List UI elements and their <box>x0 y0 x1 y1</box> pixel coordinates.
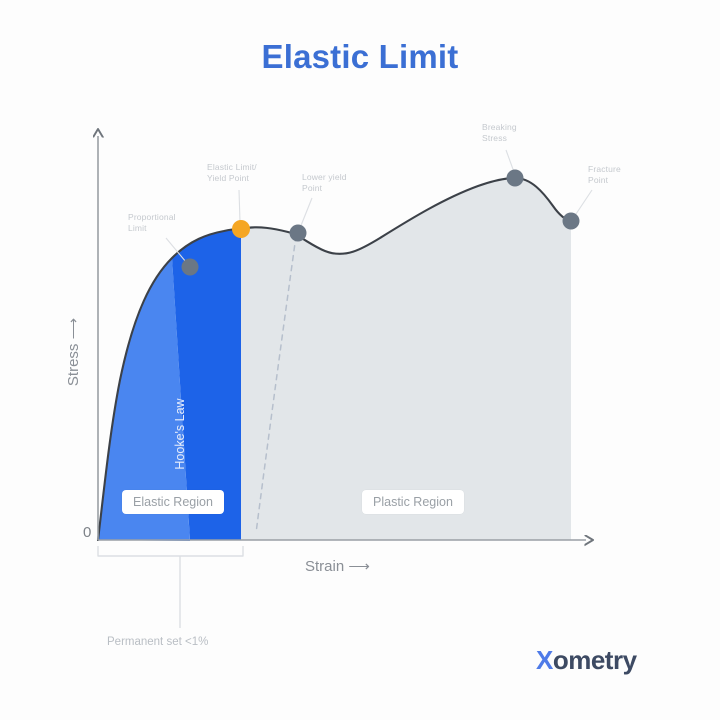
callout-fracture-point: Fracture Point <box>588 164 621 187</box>
marker-fracture-point[interactable] <box>563 213 580 230</box>
xometry-logo-mark: X <box>536 645 553 675</box>
leader-line-elastic-limit <box>239 190 240 222</box>
hookes-law-label-wrap: Hooke's Law <box>172 380 188 490</box>
callout-elastic-limit-yield-point: Elastic Limit/ Yield Point <box>207 162 257 185</box>
x-axis-label: Strain ⟶ <box>305 557 370 575</box>
region-label-elastic: Elastic Region <box>122 490 224 514</box>
hookes-law-label: Hooke's Law <box>173 379 187 489</box>
marker-breaking-stress[interactable] <box>507 170 524 187</box>
permanent-set-label: Permanent set <1% <box>107 636 208 648</box>
xometry-logo-text: ometry <box>553 645 637 675</box>
leader-line-lower-yield <box>300 198 312 228</box>
permanent-set-bracket <box>98 546 243 556</box>
xometry-logo: Xometry <box>536 645 637 676</box>
axis-origin-zero: 0 <box>83 524 91 541</box>
callout-proportional-limit: Proportional Limit <box>128 212 176 235</box>
leader-line-breaking-stress <box>506 150 514 172</box>
stress-strain-chart <box>0 0 720 720</box>
leader-line-fracture-point <box>576 190 592 214</box>
marker-proportional-limit[interactable] <box>182 259 199 276</box>
callout-lower-yield-point: Lower yield Point <box>302 172 347 195</box>
y-axis-label-wrap: Stress ⟶ <box>48 275 78 435</box>
y-axis-label: Stress ⟶ <box>64 272 82 432</box>
callout-breaking-stress: Breaking Stress <box>482 122 517 145</box>
marker-elastic-limit-yield-point[interactable] <box>232 220 250 238</box>
infographic-canvas: Elastic Limit <box>0 0 720 720</box>
marker-lower-yield-point[interactable] <box>290 225 307 242</box>
region-label-plastic: Plastic Region <box>362 490 464 514</box>
